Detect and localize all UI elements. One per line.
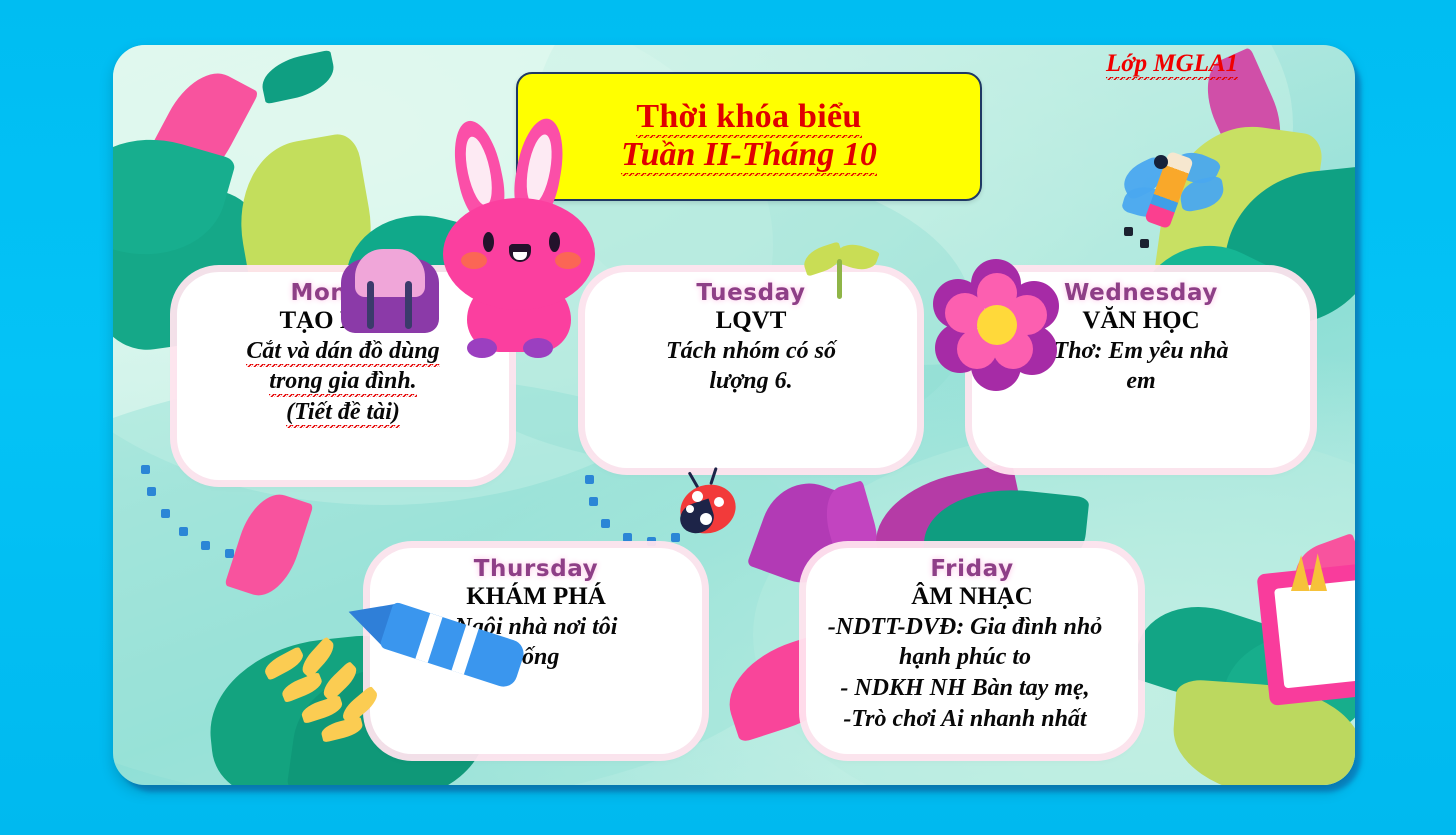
ladybug-icon <box>678 475 740 537</box>
poster-stage: Thời khóa biểu Tuần II-Tháng 10 Lớp MGLA… <box>0 0 1456 835</box>
green-leaf-icon <box>258 50 339 105</box>
title-line-1: Thời khóa biểu <box>636 99 861 136</box>
subject-thursday: KHÁM PHÁ <box>466 583 606 611</box>
subject-friday: ÂM NHẠC <box>911 583 1033 611</box>
sprout-icon <box>803 241 877 303</box>
backpack-icon <box>341 241 439 333</box>
detail-friday: -NDTT-DVĐ: Gia đình nhỏ hạnh phúc to - N… <box>785 612 1145 735</box>
butterfly-pencil-icon <box>1118 145 1228 245</box>
book-icon <box>1263 553 1355 713</box>
subject-wednesday: VĂN HỌC <box>1082 307 1199 335</box>
timetable-poster: Thời khóa biểu Tuần II-Tháng 10 Lớp MGLA… <box>113 45 1355 785</box>
flower-icon <box>931 259 1061 389</box>
title-line-2: Tuần II-Tháng 10 <box>621 135 877 174</box>
day-label-wednesday: Wednesday <box>1064 282 1218 305</box>
day-label-thursday: Thursday <box>474 558 599 581</box>
detail-wednesday: Thơ: Em yêu nhà em <box>1054 336 1229 397</box>
detail-monday: Cắt và dán đồ dùng trong gia đình. (Tiết… <box>246 336 439 428</box>
class-label: Lớp MGLA1 <box>1106 50 1238 78</box>
day-label-tuesday: Tuesday <box>696 282 805 305</box>
day-label-friday: Friday <box>930 558 1013 581</box>
subject-tuesday: LQVT <box>716 307 787 335</box>
detail-tuesday: Tách nhóm có số lượng 6. <box>666 336 836 397</box>
card-friday[interactable]: Friday ÂM NHẠC -NDTT-DVĐ: Gia đình nhỏ h… <box>806 548 1138 754</box>
bunny-icon <box>431 120 611 348</box>
